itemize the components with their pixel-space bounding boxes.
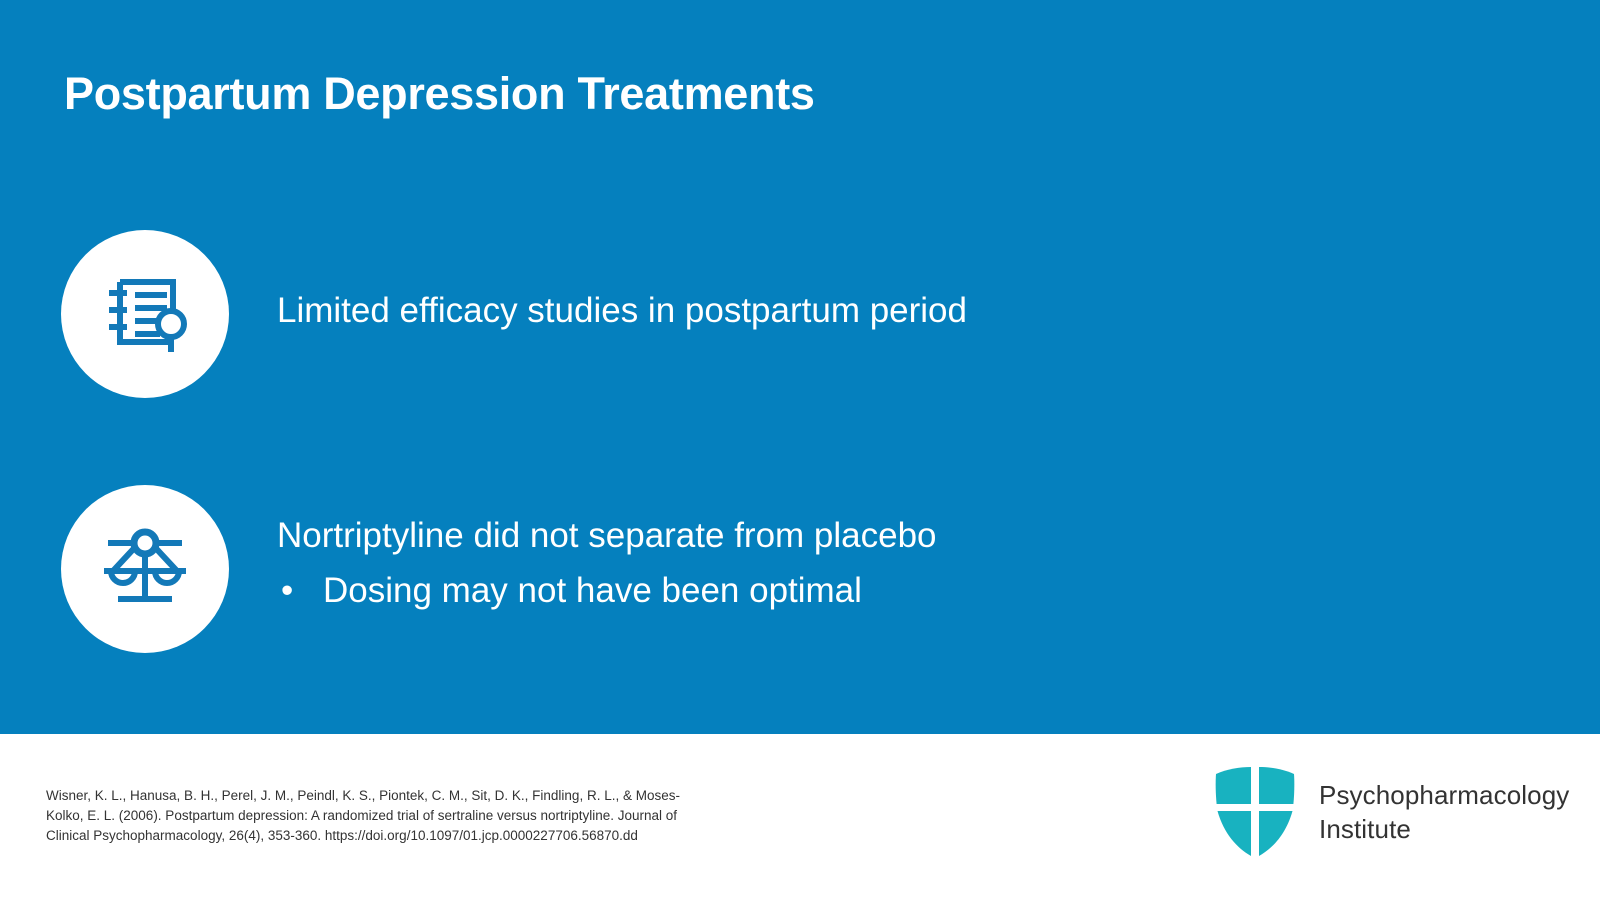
citation-line-3: Clinical Psychopharmacology, 26(4), 353-…	[46, 826, 776, 846]
brand-logo-text: Psychopharmacology Institute	[1319, 778, 1569, 846]
point-1-text: Limited efficacy studies in postpartum p…	[277, 288, 1477, 334]
citation-text: Wisner, K. L., Hanusa, B. H., Perel, J. …	[46, 786, 776, 846]
slide-footer: Wisner, K. L., Hanusa, B. H., Perel, J. …	[0, 734, 1600, 899]
citation-line-2: Kolko, E. L. (2006). Postpartum depressi…	[46, 806, 776, 826]
point-2-main: Nortriptyline did not separate from plac…	[277, 513, 1477, 559]
point-1-main: Limited efficacy studies in postpartum p…	[277, 288, 1477, 334]
notebook-seal-icon	[61, 230, 229, 398]
balance-scale-icon	[61, 485, 229, 653]
slide: Postpartum Depression Treatments	[0, 0, 1600, 899]
citation-line-1: Wisner, K. L., Hanusa, B. H., Perel, J. …	[46, 786, 776, 806]
slide-body: Postpartum Depression Treatments	[0, 0, 1600, 734]
brand-name-line-1: Psychopharmacology	[1319, 778, 1569, 812]
bullet-glyph: •	[277, 568, 323, 614]
point-2-sub-list: • Dosing may not have been optimal	[277, 568, 1477, 614]
point-2-text: Nortriptyline did not separate from plac…	[277, 513, 1477, 614]
brand-logo: Psychopharmacology Institute	[1213, 766, 1569, 858]
page-title: Postpartum Depression Treatments	[64, 68, 815, 120]
shield-logo-icon	[1213, 766, 1297, 858]
brand-name-line-2: Institute	[1319, 812, 1569, 846]
list-item: • Dosing may not have been optimal	[277, 568, 1477, 614]
point-2-sub-text: Dosing may not have been optimal	[323, 568, 862, 614]
